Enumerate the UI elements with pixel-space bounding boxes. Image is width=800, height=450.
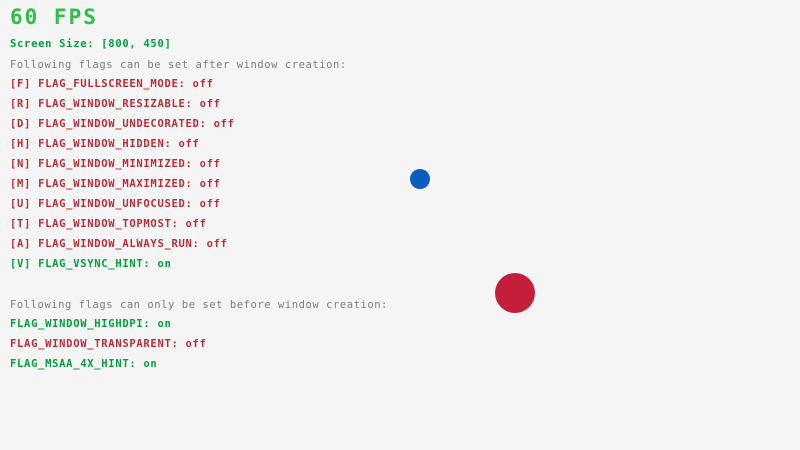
bouncing-ball-red: [495, 273, 535, 313]
section-header-before-creation: Following flags can only be set before w…: [10, 299, 388, 311]
section-header-after-creation: Following flags can be set after window …: [10, 59, 347, 71]
flag-row-msaa-4x-hint: FLAG_MSAA_4X_HINT: on: [10, 358, 157, 370]
flag-row-window-highdpi: FLAG_WINDOW_HIGHDPI: on: [10, 318, 172, 330]
flag-row-window-unfocused[interactable]: [U] FLAG_WINDOW_UNFOCUSED: off: [10, 198, 221, 210]
flag-row-window-maximized[interactable]: [M] FLAG_WINDOW_MAXIMIZED: off: [10, 178, 221, 190]
screen-size-label: Screen Size: [800, 450]: [10, 38, 172, 50]
flag-row-window-topmost[interactable]: [T] FLAG_WINDOW_TOPMOST: off: [10, 218, 207, 230]
flag-row-window-resizable[interactable]: [R] FLAG_WINDOW_RESIZABLE: off: [10, 98, 221, 110]
flag-row-window-always-run[interactable]: [A] FLAG_WINDOW_ALWAYS_RUN: off: [10, 238, 228, 250]
flag-row-window-undecorated[interactable]: [D] FLAG_WINDOW_UNDECORATED: off: [10, 118, 235, 130]
flag-row-window-hidden[interactable]: [H] FLAG_WINDOW_HIDDEN: off: [10, 138, 200, 150]
bouncing-ball-blue: [410, 169, 430, 189]
fps-counter: 60 FPS: [10, 6, 98, 28]
raylib-window-canvas[interactable]: 60 FPS Screen Size: [800, 450] Following…: [0, 0, 800, 450]
flag-row-fullscreen-mode[interactable]: [F] FLAG_FULLSCREEN_MODE: off: [10, 78, 214, 90]
flag-row-window-minimized[interactable]: [N] FLAG_WINDOW_MINIMIZED: off: [10, 158, 221, 170]
flag-row-vsync-hint[interactable]: [V] FLAG_VSYNC_HINT: on: [10, 258, 172, 270]
flag-row-window-transparent: FLAG_WINDOW_TRANSPARENT: off: [10, 338, 207, 350]
